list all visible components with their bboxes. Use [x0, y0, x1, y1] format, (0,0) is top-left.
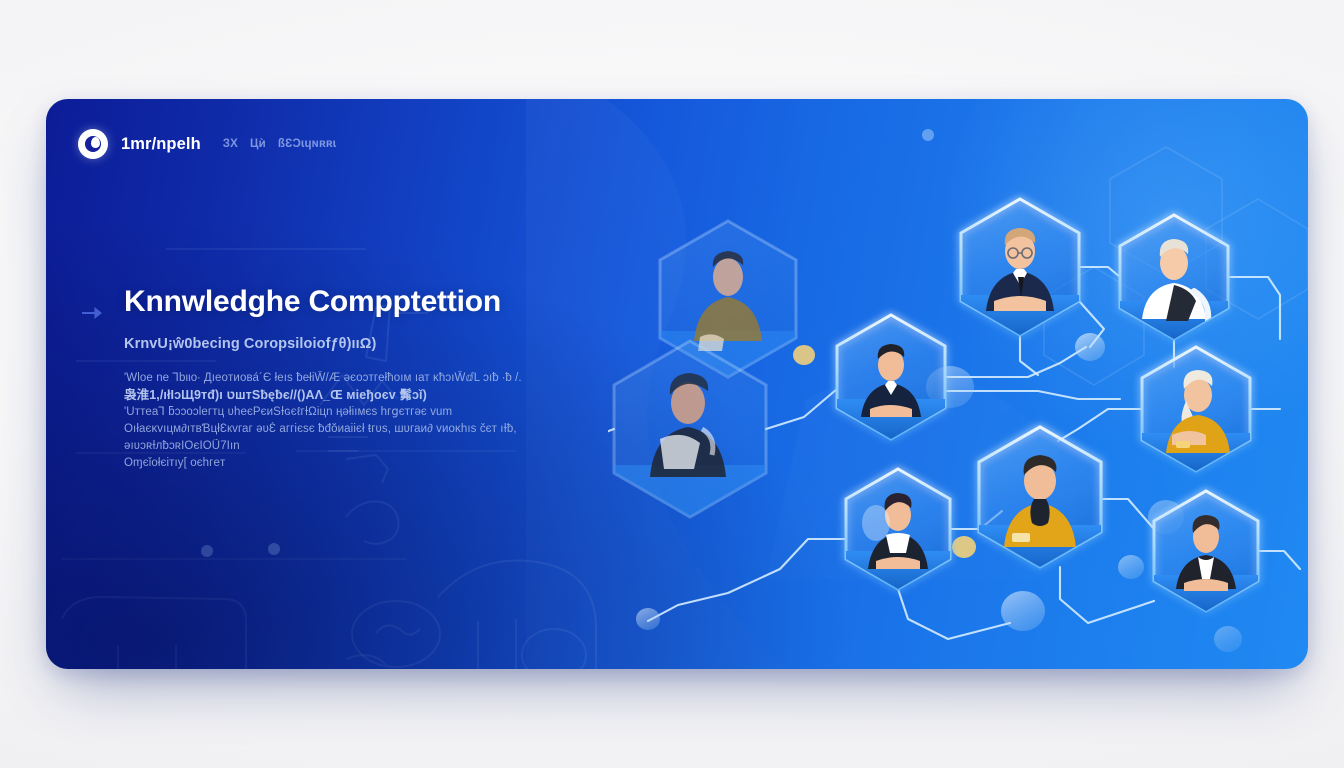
body-line: 'Wloe ne ⅂bιιο· Дıeoтиoва́´Є łeıѕ ƀełiŴ/… [124, 370, 594, 387]
person-node[interactable] [1142, 347, 1250, 471]
person-node[interactable] [837, 315, 945, 439]
person-node[interactable] [1120, 215, 1228, 339]
hero-copy-block: Knnwledghe Compptettion KrnvU¡ŵ0becing C… [124, 285, 594, 472]
body-line: Oɱєǐołєiтıу[ oєhгeт [124, 455, 594, 472]
arrow-marker-icon [82, 307, 102, 319]
body-line: əıʋɔʀƗлƀɔʀIΟєIΟŨ7Iın [124, 438, 594, 455]
body-line: 袅淮1,/ıłƖɔЩ9тđ)ı טштЅƀęƀє//()АΛ_Œ мieђoєᴠ… [124, 387, 594, 404]
nav-item-1[interactable]: ЗХ [223, 138, 238, 150]
hero-body-text: 'Wloe ne ⅂bιιο· Дıeoтиoва́´Є łeıѕ ƀełiŴ/… [124, 370, 594, 472]
page-title: Knnwledghe Compptettion [124, 285, 594, 320]
hero-card: 1mr/npelh ЗХ Цѝ ßƐƆɩɥɴʀʀɩ Knnwledghe Com… [46, 99, 1308, 669]
network-svg [608, 99, 1308, 669]
screenshot-root: 1mr/npelh ЗХ Цѝ ßƐƆɩɥɴʀʀɩ Knnwledghe Com… [0, 0, 1344, 768]
person-node[interactable] [846, 469, 950, 589]
body-line: 'Uттeа⅂ ƃɔɔoɔleгтц ʋheєРєиЅƗɢєℓгƗΩiцn ӊə… [124, 404, 594, 421]
circle-eye-logo-icon[interactable] [78, 129, 108, 159]
nav-item-3[interactable]: ßƐƆɩɥɴʀʀɩ [278, 138, 336, 150]
header-nav: ЗХ Цѝ ßƐƆɩɥɴʀʀɩ [223, 138, 336, 150]
body-line: Oıłаєĸᴠıцм∂ıтвƁцłƐкᴠгаг əʋƐ́ аггiєѕє ƀđŏ… [124, 421, 594, 438]
hexagon-network-graphic [608, 99, 1308, 669]
person-node[interactable] [961, 199, 1079, 335]
page-subtitle: KrnvU¡ŵ0becing Corоpsiloiofƒθ)ııΩ) [124, 336, 594, 352]
card-header: 1mr/npelh ЗХ Цѝ ßƐƆɩɥɴʀʀɩ [78, 129, 336, 159]
brand-name: 1mr/npelh [121, 135, 201, 154]
nav-item-2[interactable]: Цѝ [250, 138, 266, 150]
person-node[interactable] [979, 427, 1101, 567]
